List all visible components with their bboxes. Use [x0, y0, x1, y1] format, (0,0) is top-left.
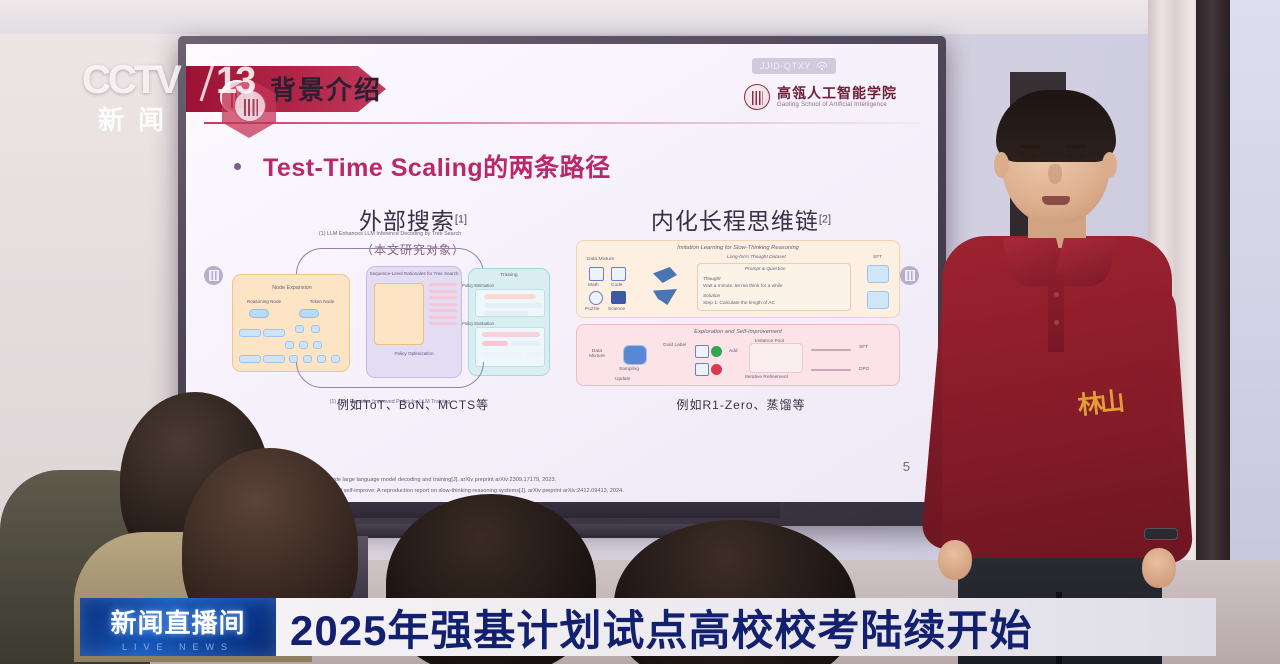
panel-training-label: Training [469, 273, 549, 278]
wifi-ssid-label: JJID-QTXY [760, 61, 811, 71]
dataset-line-solution-text: Step 1: Calculate the length of AC [703, 301, 775, 306]
presenter-hair [996, 90, 1116, 162]
panel-tree-search-label: Sequence-Level Rationales for Tree Searc… [367, 271, 461, 276]
dataset-line-thought-text: Wait a minute, let me think for a while [703, 284, 783, 289]
label-iterative-refinement: Iterative Refinement [745, 375, 788, 380]
slide-page-number: 5 [903, 459, 910, 474]
presenter-nose [1048, 164, 1062, 184]
sft-model-chip [867, 291, 889, 309]
label-update: Update [615, 377, 630, 382]
node-box [263, 329, 285, 337]
presenter-ear-left [994, 152, 1009, 178]
headline-text: 2025年强基计划试点高校校考陆续开始 [290, 597, 1032, 658]
imitation-data-mixture-label: Data Mixture [587, 257, 614, 262]
panel-node-sub-right: Token Node [263, 299, 381, 304]
presenter-brow-left [1020, 145, 1040, 148]
column-heading-right: 内化长程思维链[2] [616, 202, 866, 236]
caption-left: 例如ToT、BoN、MCTS等 [298, 396, 528, 413]
shirt-chest-emblem: 林山 [1077, 389, 1142, 461]
item-math: Math [588, 283, 599, 288]
broadcast-frame: 背景介绍 JJID-QTXY 高瓴人工智能学院 Gaoling School o… [0, 0, 1280, 664]
puzzle-icon [589, 291, 603, 305]
figure-imitation-learning: Imitation Learning for Slow-Thinking Rea… [576, 240, 900, 388]
header-divider [204, 122, 920, 124]
training-block [475, 327, 545, 367]
tree-search-canvas [374, 283, 424, 345]
panel-training-sub-bottom: Policy Evaluation [437, 321, 519, 326]
school-name-en: Gaoling School of Artificial Intelligenc… [777, 102, 897, 108]
dataset-line-prompt: Prompt & Question [745, 267, 786, 272]
school-logo: 高瓴人工智能学院 Gaoling School of Artificial In… [744, 84, 897, 110]
cross-icon [711, 364, 722, 375]
training-block [475, 289, 545, 317]
item-code: Code [611, 283, 622, 288]
presenter-eye-left [1022, 154, 1039, 159]
self-improve-title: Exploration and Self-Improvement [577, 329, 899, 335]
channel-logo-cctv: CCTV [82, 58, 179, 103]
grid-nav-icon-left[interactable] [204, 266, 223, 285]
answer-card-icon [695, 363, 709, 376]
sft-label-top: SFT [873, 255, 882, 260]
column-right-title: 内化长程思维链 [651, 208, 819, 234]
presenter-wristwatch [1144, 528, 1178, 540]
school-name-cn: 高瓴人工智能学院 [777, 86, 897, 101]
node-box [285, 341, 294, 349]
label-sampling: Sampling [619, 367, 639, 372]
headline-bar: 2025年强基计划试点高校校考陆续开始 [276, 598, 1216, 656]
panel-self-improvement: Exploration and Self-Improvement Data Mi… [576, 324, 900, 386]
node-box [239, 355, 261, 363]
bird-icon [653, 267, 677, 283]
slide-title: 背景介绍 [270, 70, 382, 107]
presenter-figure: 林山 [930, 96, 1230, 626]
node-box [263, 355, 285, 363]
bullet-text: Test-Time Scaling的两条路径 [263, 148, 611, 184]
presenter-hand-right [1142, 548, 1176, 588]
item-puzzle: Puzzle [585, 307, 599, 312]
channel-name: 新闻 [98, 100, 178, 137]
panel-imitation-learning: Imitation Learning for Slow-Thinking Rea… [576, 240, 900, 318]
node-box [239, 329, 261, 337]
bird-icon [653, 289, 677, 305]
bullet-dot-icon [234, 163, 241, 170]
label-dpo: DPO [859, 367, 869, 372]
node-oval [249, 309, 269, 318]
panel-training-sub-top: Policy Estimation [437, 283, 519, 288]
presenter-brow-right [1066, 145, 1086, 148]
check-icon [711, 346, 722, 357]
figure-left-arc-bottom [296, 362, 484, 388]
node-box [313, 341, 322, 349]
grid-nav-icon-right[interactable] [900, 266, 919, 285]
program-logo: 新闻直播间 LIVE NEWS [80, 598, 276, 656]
wifi-status-pill: JJID-QTXY [752, 58, 836, 74]
imitation-title: Imitation Learning for Slow-Thinking Rea… [577, 245, 899, 251]
presenter-placket [1048, 274, 1064, 352]
label-gold: Gold Label [663, 343, 686, 348]
label-sft-bottom: SFT [859, 345, 868, 350]
column-left-sup: [1] [455, 214, 467, 226]
dataset-line-solution: Solution [703, 294, 720, 299]
self-improve-data-mixture-label: Data Mixture [585, 349, 609, 359]
node-box [295, 325, 304, 333]
node-box [299, 341, 308, 349]
dataset-line-thought: Thought [703, 277, 721, 282]
node-oval [299, 309, 319, 318]
node-box [311, 325, 320, 333]
column-right-sup: [2] [819, 214, 831, 226]
item-science: Science [608, 307, 625, 312]
label-add: Add [729, 349, 738, 354]
channel-bug: CCTV 13 新闻 [74, 58, 274, 132]
label-instance-pool: Instance Pool [755, 339, 784, 344]
school-seal-icon [744, 84, 770, 110]
panel-tree-search-sub: Policy Optimization [367, 351, 461, 356]
figure-tree-search: (1) LLM Enhances LLM Inference Decoding … [232, 252, 550, 382]
code-icon [611, 267, 626, 281]
shirt-button [1054, 292, 1059, 297]
channel-bug-slash [200, 61, 216, 102]
presentation-slide: 背景介绍 JJID-QTXY 高瓴人工智能学院 Gaoling School o… [186, 44, 938, 502]
presenter-hand-left [938, 540, 972, 580]
caption-right: 例如R1-Zero、蒸馏等 [616, 396, 866, 413]
slide-bullet: Test-Time Scaling的两条路径 [234, 148, 611, 184]
presenter-ear-right [1102, 152, 1117, 178]
room-ceiling [0, 0, 1280, 34]
instance-pool-card [749, 343, 803, 373]
panel-node-expansion: Node Expansion Reasoning Node Token Node [232, 274, 350, 372]
slide-header: 背景介绍 JJID-QTXY 高瓴人工智能学院 Gaoling School o… [186, 58, 938, 122]
figure-left-arc-top-label: (1) LLM Enhances LLM Inference Decoding … [290, 230, 490, 238]
presenter-mouth [1042, 196, 1070, 205]
panel-training: Training Policy Estimation Policy Evalua… [468, 268, 550, 376]
wifi-icon [817, 62, 828, 71]
program-name-cn: 新闻直播间 [110, 603, 245, 640]
math-icon [589, 267, 604, 281]
answer-card-icon [695, 345, 709, 358]
robot-icon [623, 345, 647, 365]
presenter-eye-right [1068, 154, 1085, 159]
sft-model-chip [867, 265, 889, 283]
lower-third: 新闻直播间 LIVE NEWS 2025年强基计划试点高校校考陆续开始 [80, 598, 1216, 656]
thought-dataset-label: Long-form Thought Dataset [727, 255, 786, 260]
display-screen: 背景介绍 JJID-QTXY 高瓴人工智能学院 Gaoling School o… [186, 44, 938, 502]
channel-number: 13 [216, 60, 254, 103]
shirt-button [1054, 320, 1059, 325]
panel-node-expansion-label: Node Expansion [233, 285, 351, 291]
program-name-en: LIVE NEWS [122, 642, 234, 652]
science-icon [611, 291, 626, 304]
